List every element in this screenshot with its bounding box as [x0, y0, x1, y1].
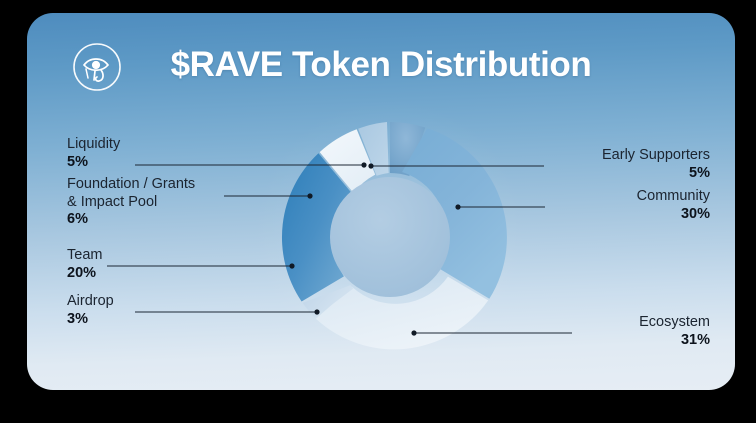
- label-community: Community 30%: [637, 188, 710, 223]
- leader-dot-team: [289, 263, 294, 268]
- token-distribution-card: $RAVE Token Distribution: [27, 13, 735, 390]
- label-team-percent: 20%: [67, 265, 102, 283]
- label-foundation: Foundation / Grants & Impact Pool 6%: [67, 176, 195, 229]
- label-airdrop: Airdrop 3%: [67, 293, 114, 328]
- leader-dot-airdrop: [314, 309, 319, 314]
- label-foundation-percent: 6%: [67, 211, 195, 229]
- donut-hole: [330, 177, 450, 297]
- label-foundation-name-line2: & Impact Pool: [67, 194, 195, 212]
- label-liquidity-percent: 5%: [67, 154, 120, 172]
- leader-dot-foundation: [307, 193, 312, 198]
- label-early-supporters-percent: 5%: [602, 165, 710, 183]
- label-early-supporters-name: Early Supporters: [602, 147, 710, 165]
- label-airdrop-name: Airdrop: [67, 293, 114, 311]
- label-team: Team 20%: [67, 247, 102, 282]
- label-ecosystem-percent: 31%: [639, 332, 710, 350]
- leader-dot-community: [455, 204, 460, 209]
- label-early-supporters: Early Supporters 5%: [602, 147, 710, 182]
- leader-dot-liquidity: [361, 162, 366, 167]
- leader-dot-early: [368, 163, 373, 168]
- slide-canvas: $RAVE Token Distribution: [0, 0, 756, 423]
- label-ecosystem-name: Ecosystem: [639, 314, 710, 332]
- leader-dot-ecosystem: [411, 330, 416, 335]
- label-foundation-name-line1: Foundation / Grants: [67, 176, 195, 194]
- label-liquidity: Liquidity 5%: [67, 136, 120, 171]
- label-liquidity-name: Liquidity: [67, 136, 120, 154]
- label-community-name: Community: [637, 188, 710, 206]
- label-ecosystem: Ecosystem 31%: [639, 314, 710, 349]
- label-community-percent: 30%: [637, 206, 710, 224]
- label-airdrop-percent: 3%: [67, 311, 114, 329]
- label-team-name: Team: [67, 247, 102, 265]
